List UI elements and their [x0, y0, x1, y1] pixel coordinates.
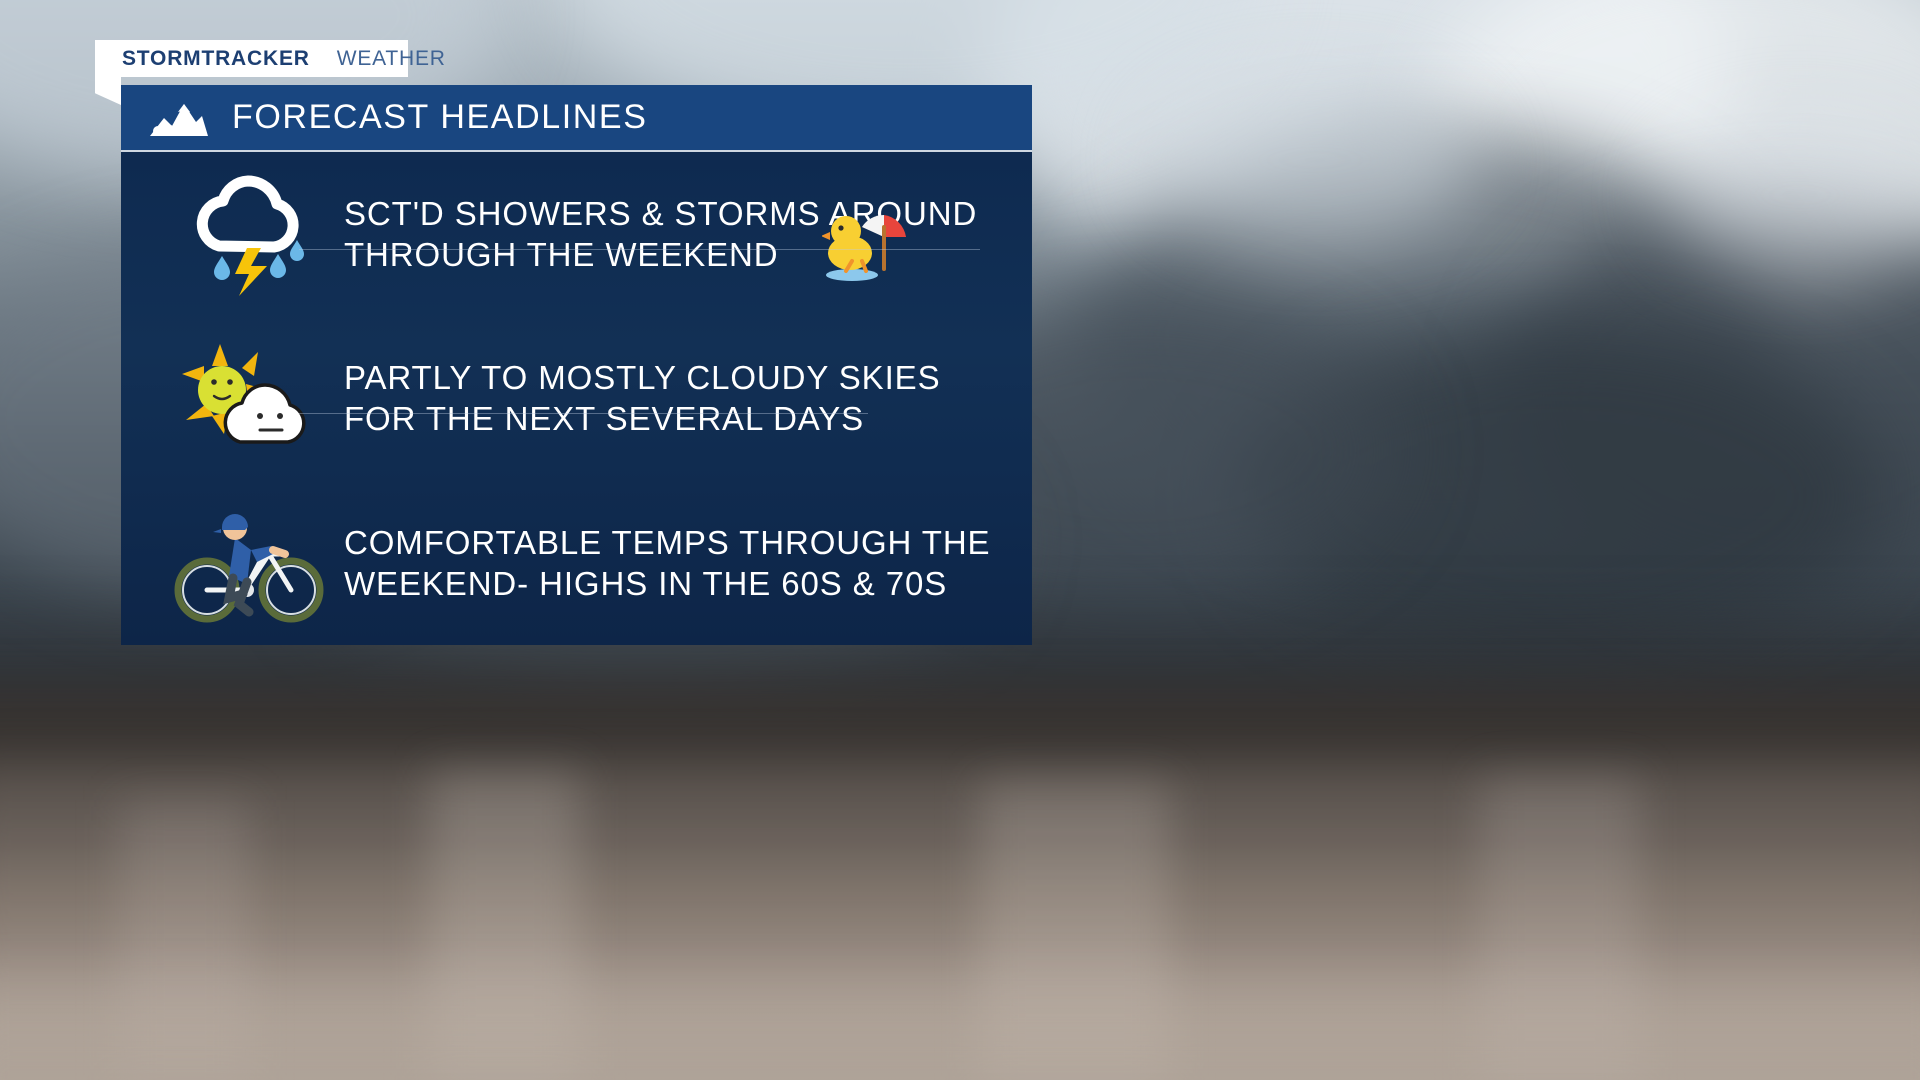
- headline-row: COMFORTABLE TEMPS THROUGH THE WEEKEND- H…: [121, 481, 1032, 645]
- headline-line-1: PARTLY TO MOSTLY CLOUDY SKIES: [344, 357, 1014, 398]
- headline-line-1: COMFORTABLE TEMPS THROUGH THE: [344, 522, 1014, 563]
- branding-tab: STORMTRACKER WEATHER: [95, 40, 408, 77]
- headline-row: SCT'D SHOWERS & STORMS AROUND THROUGH TH…: [121, 152, 1032, 316]
- panel-header: FORECAST HEADLINES: [121, 85, 1032, 152]
- brand-primary-label: STORMTRACKER: [122, 47, 310, 71]
- headline-line-1: SCT'D SHOWERS & STORMS AROUND: [344, 193, 1014, 234]
- cloud-blob: [1150, 80, 1480, 240]
- brand-secondary-label: WEATHER: [337, 47, 446, 71]
- headline-text: PARTLY TO MOSTLY CLOUDY SKIES FOR THE NE…: [328, 357, 1014, 439]
- ground-haze: [0, 980, 1920, 1080]
- thunderstorm-cloud-icon: [173, 170, 328, 298]
- row-divider: [299, 413, 868, 414]
- mountain-peaks-icon: [148, 98, 210, 138]
- cyclist-icon: [173, 502, 328, 624]
- headline-line-2: WEEKEND- HIGHS IN THE 60S & 70S: [344, 563, 1014, 604]
- headline-line-2: THROUGH THE WEEKEND: [344, 234, 1014, 275]
- sun-behind-cloud-icon: [173, 338, 328, 458]
- panel-title: FORECAST HEADLINES: [232, 98, 647, 137]
- row-divider: [299, 249, 980, 250]
- duck-with-umbrella-icon: [822, 199, 910, 283]
- headline-line-2: FOR THE NEXT SEVERAL DAYS: [344, 398, 1014, 439]
- headline-text: SCT'D SHOWERS & STORMS AROUND THROUGH TH…: [328, 193, 1014, 275]
- headline-row: PARTLY TO MOSTLY CLOUDY SKIES FOR THE NE…: [121, 316, 1032, 480]
- panel-body: SCT'D SHOWERS & STORMS AROUND THROUGH TH…: [121, 152, 1032, 645]
- headline-text: COMFORTABLE TEMPS THROUGH THE WEEKEND- H…: [328, 522, 1014, 604]
- forecast-headlines-panel: FORECAST HEADLINES SCT'D SHOWERS & STORM…: [121, 85, 1032, 645]
